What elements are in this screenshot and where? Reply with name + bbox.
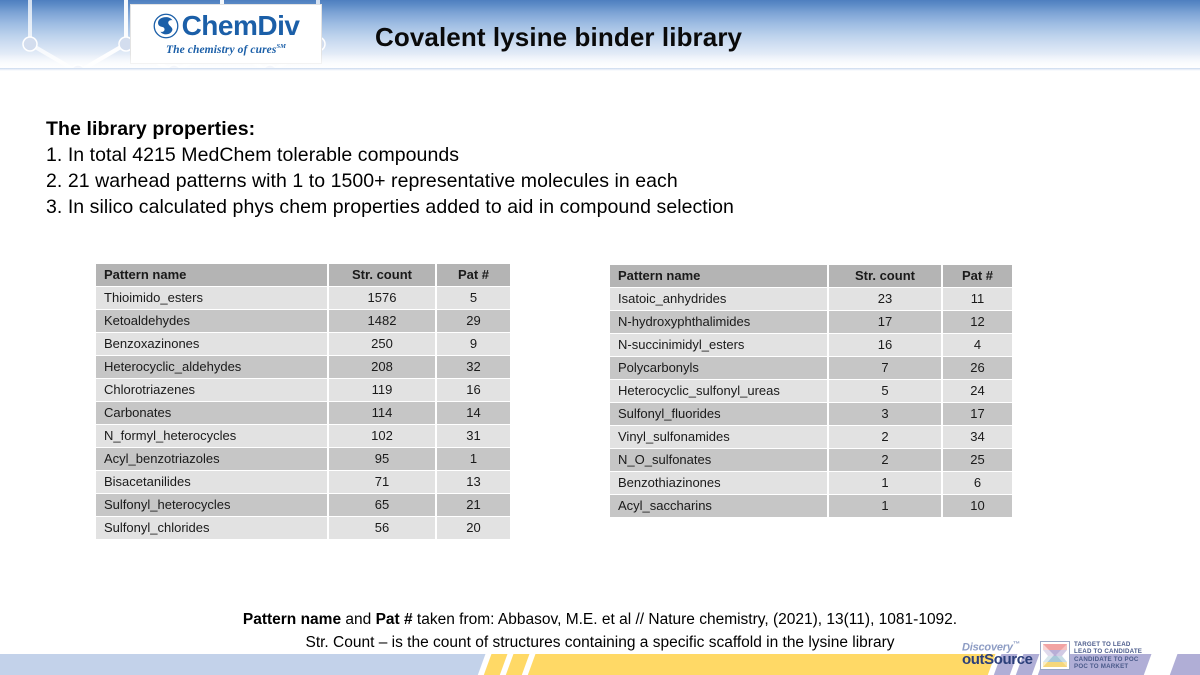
- cell-pattern-name: Benzothiazinones: [610, 471, 828, 494]
- cell-pattern-name: Isatoic_anhydrides: [610, 287, 828, 310]
- cell-str-count: 250: [328, 332, 436, 355]
- outsource-wordmark: outSource: [962, 651, 1033, 668]
- table-row: Carbonates11414: [96, 401, 510, 424]
- outsource-line-1: TARGET TO LEAD: [1074, 641, 1142, 648]
- properties-line-3: 3. In silico calculated phys chem proper…: [46, 194, 734, 220]
- cell-pat-num: 20: [436, 516, 510, 539]
- logo-tagline-sup: SM: [276, 43, 286, 50]
- cell-pattern-name: Sulfonyl_fluorides: [610, 402, 828, 425]
- table-row: Heterocyclic_aldehydes20832: [96, 355, 510, 378]
- cell-str-count: 95: [328, 447, 436, 470]
- bar-stripe: [503, 654, 530, 675]
- discovery-outsource-logo: Discovery™ outSource TARGET TO LEAD LEAD…: [962, 640, 1200, 673]
- cell-str-count: 1576: [328, 286, 436, 309]
- properties-line-2: 2. 21 warhead patterns with 1 to 1500+ r…: [46, 168, 734, 194]
- cell-str-count: 2: [828, 425, 942, 448]
- table-row: Sulfonyl_heterocycles6521: [96, 493, 510, 516]
- slide-root: ChemDiv The chemistry of curesSM Covalen…: [0, 0, 1200, 675]
- table-row: Polycarbonyls726: [610, 356, 1012, 379]
- cell-pattern-name: N_formyl_heterocycles: [96, 424, 328, 447]
- library-properties: The library properties: 1. In total 4215…: [46, 116, 734, 220]
- cell-pattern-name: Sulfonyl_heterocycles: [96, 493, 328, 516]
- cell-str-count: 16: [828, 333, 942, 356]
- cell-pattern-name: Thioimido_esters: [96, 286, 328, 309]
- table-row: Isatoic_anhydrides2311: [610, 287, 1012, 310]
- table-row: Heterocyclic_sulfonyl_ureas524: [610, 379, 1012, 402]
- table-row: N_O_sulfonates225: [610, 448, 1012, 471]
- cell-pat-num: 16: [436, 378, 510, 401]
- table-row: Bisacetanilides7113: [96, 470, 510, 493]
- table-row: Sulfonyl_chlorides5620: [96, 516, 510, 539]
- cell-str-count: 5: [828, 379, 942, 402]
- cell-str-count: 2: [828, 448, 942, 471]
- footnote-bold-pattern-name: Pattern name: [243, 611, 341, 628]
- cell-pat-num: 1: [436, 447, 510, 470]
- cell-pat-num: 25: [942, 448, 1012, 471]
- table-row: N-hydroxyphthalimides1712: [610, 310, 1012, 333]
- cell-pat-num: 6: [942, 471, 1012, 494]
- cell-pat-num: 31: [436, 424, 510, 447]
- table-row: Chlorotriazenes11916: [96, 378, 510, 401]
- cell-pat-num: 17: [942, 402, 1012, 425]
- footnote-line-1: Pattern name and Pat # taken from: Abbas…: [0, 608, 1200, 631]
- cell-pattern-name: Acyl_benzotriazoles: [96, 447, 328, 470]
- table-row: Acyl_benzotriazoles951: [96, 447, 510, 470]
- pattern-table-right: Pattern name Str. count Pat # Isatoic_an…: [610, 265, 1012, 517]
- discovery-tm: ™: [1013, 641, 1020, 648]
- bar-stripe: [481, 654, 508, 675]
- cell-str-count: 23: [828, 287, 942, 310]
- cell-str-count: 71: [328, 470, 436, 493]
- column-header-str-count: Str. count: [328, 264, 436, 286]
- cell-pat-num: 26: [942, 356, 1012, 379]
- table-row: Benzothiazinones16: [610, 471, 1012, 494]
- cell-pattern-name: Vinyl_sulfonamides: [610, 425, 828, 448]
- cell-pattern-name: N_O_sulfonates: [610, 448, 828, 471]
- table-body-right: Isatoic_anhydrides2311 N-hydroxyphthalim…: [610, 287, 1012, 517]
- table-row: N-succinimidyl_esters164: [610, 333, 1012, 356]
- cell-pattern-name: Ketoaldehydes: [96, 309, 328, 332]
- column-header-str-count: Str. count: [828, 265, 942, 287]
- cell-str-count: 1: [828, 494, 942, 517]
- cell-pat-num: 4: [942, 333, 1012, 356]
- cell-pat-num: 24: [942, 379, 1012, 402]
- cell-pat-num: 9: [436, 332, 510, 355]
- cell-str-count: 114: [328, 401, 436, 424]
- outsource-tagline-lines: TARGET TO LEAD LEAD TO CANDIDATE CANDIDA…: [1074, 641, 1142, 671]
- bar-stripe: [0, 654, 485, 675]
- table-row: Sulfonyl_fluorides317: [610, 402, 1012, 425]
- chemdiv-swirl-icon: [153, 13, 179, 39]
- header-underline: [0, 68, 1200, 71]
- cell-str-count: 1: [828, 471, 942, 494]
- outsource-line-2: LEAD TO CANDIDATE: [1074, 648, 1142, 655]
- cell-pat-num: 34: [942, 425, 1012, 448]
- properties-line-1: 1. In total 4215 MedChem tolerable compo…: [46, 142, 734, 168]
- cell-pat-num: 10: [942, 494, 1012, 517]
- cell-str-count: 119: [328, 378, 436, 401]
- cell-pattern-name: N-hydroxyphthalimides: [610, 310, 828, 333]
- footnote-and: and: [341, 611, 375, 628]
- cell-pat-num: 13: [436, 470, 510, 493]
- cell-str-count: 17: [828, 310, 942, 333]
- cell-pattern-name: Chlorotriazenes: [96, 378, 328, 401]
- table-row: Vinyl_sulfonamides234: [610, 425, 1012, 448]
- cell-pat-num: 14: [436, 401, 510, 424]
- pattern-table-left: Pattern name Str. count Pat # Thioimido_…: [96, 264, 510, 539]
- column-header-pattern-name: Pattern name: [610, 265, 828, 287]
- cell-pattern-name: Benzoxazinones: [96, 332, 328, 355]
- table-row: Ketoaldehydes148229: [96, 309, 510, 332]
- outsource-line-4: POC TO MARKET: [1074, 663, 1142, 670]
- cell-pat-num: 5: [436, 286, 510, 309]
- cell-str-count: 56: [328, 516, 436, 539]
- cell-pattern-name: Polycarbonyls: [610, 356, 828, 379]
- logo-row: ChemDiv: [153, 12, 300, 40]
- cell-pat-num: 21: [436, 493, 510, 516]
- cell-str-count: 7: [828, 356, 942, 379]
- footnote-citation: taken from: Abbasov, M.E. et al // Natur…: [413, 611, 957, 628]
- cell-pat-num: 12: [942, 310, 1012, 333]
- table-header-row: Pattern name Str. count Pat #: [610, 265, 1012, 287]
- cell-pattern-name: Sulfonyl_chlorides: [96, 516, 328, 539]
- column-header-pattern-name: Pattern name: [96, 264, 328, 286]
- bar-stripe: [525, 654, 996, 675]
- page-title: Covalent lysine binder library: [375, 22, 742, 53]
- cell-str-count: 65: [328, 493, 436, 516]
- table-header-row: Pattern name Str. count Pat #: [96, 264, 510, 286]
- cell-pattern-name: Acyl_saccharins: [610, 494, 828, 517]
- footnote-bold-pat-num: Pat #: [376, 611, 413, 628]
- cell-pat-num: 32: [436, 355, 510, 378]
- outsource-line-3: CANDIDATE TO POC: [1074, 656, 1142, 663]
- cell-pattern-name: Bisacetanilides: [96, 470, 328, 493]
- table-row: N_formyl_heterocycles10231: [96, 424, 510, 447]
- table-row: Acyl_saccharins110: [610, 494, 1012, 517]
- properties-heading: The library properties:: [46, 116, 734, 142]
- cell-pattern-name: N-succinimidyl_esters: [610, 333, 828, 356]
- cell-str-count: 1482: [328, 309, 436, 332]
- table-row: Benzoxazinones2509: [96, 332, 510, 355]
- cell-pat-num: 11: [942, 287, 1012, 310]
- cell-pattern-name: Carbonates: [96, 401, 328, 424]
- logo-wordmark: ChemDiv: [182, 12, 300, 40]
- table-row: Thioimido_esters15765: [96, 286, 510, 309]
- column-header-pat-num: Pat #: [436, 264, 510, 286]
- table-body-left: Thioimido_esters15765 Ketoaldehydes14822…: [96, 286, 510, 539]
- column-header-pat-num: Pat #: [942, 265, 1012, 287]
- cell-pat-num: 29: [436, 309, 510, 332]
- header-sheen: [0, 54, 1200, 68]
- cell-str-count: 3: [828, 402, 942, 425]
- cell-str-count: 102: [328, 424, 436, 447]
- cell-pattern-name: Heterocyclic_sulfonyl_ureas: [610, 379, 828, 402]
- outsource-pyramid-icon: [1040, 641, 1070, 670]
- cell-pattern-name: Heterocyclic_aldehydes: [96, 355, 328, 378]
- cell-str-count: 208: [328, 355, 436, 378]
